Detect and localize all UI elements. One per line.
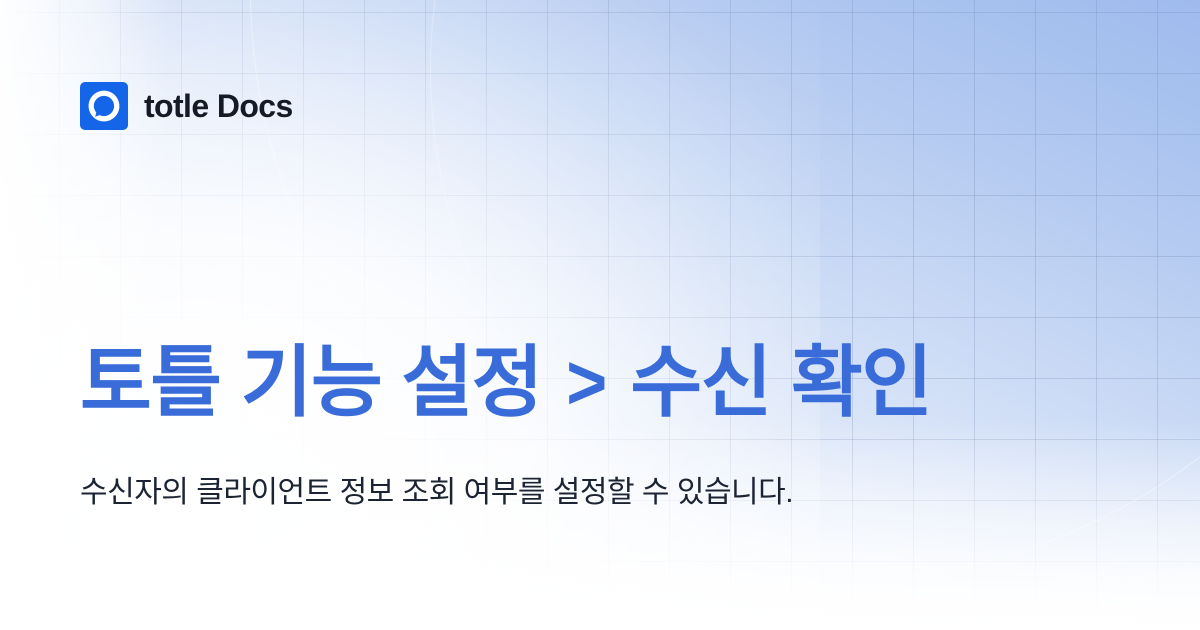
breadcrumb-separator-icon: >: [564, 336, 607, 428]
page-title: 토틀 기능 설정 > 수신 확인: [80, 336, 1140, 428]
og-card: totle Docs 토틀 기능 설정 > 수신 확인 수신자의 클라이언트 정…: [0, 0, 1200, 630]
card-content: totle Docs 토틀 기능 설정 > 수신 확인 수신자의 클라이언트 정…: [0, 0, 1200, 630]
speech-bubble-ring-icon: [80, 82, 128, 130]
page-description: 수신자의 클라이언트 정보 조회 여부를 설정할 수 있습니다.: [80, 470, 870, 517]
page-title-suffix: 수신 확인: [630, 338, 931, 426]
brand-lockup: totle Docs: [80, 82, 293, 130]
brand-name: totle Docs: [144, 90, 293, 122]
page-title-prefix: 토틀 기능 설정: [80, 338, 542, 426]
